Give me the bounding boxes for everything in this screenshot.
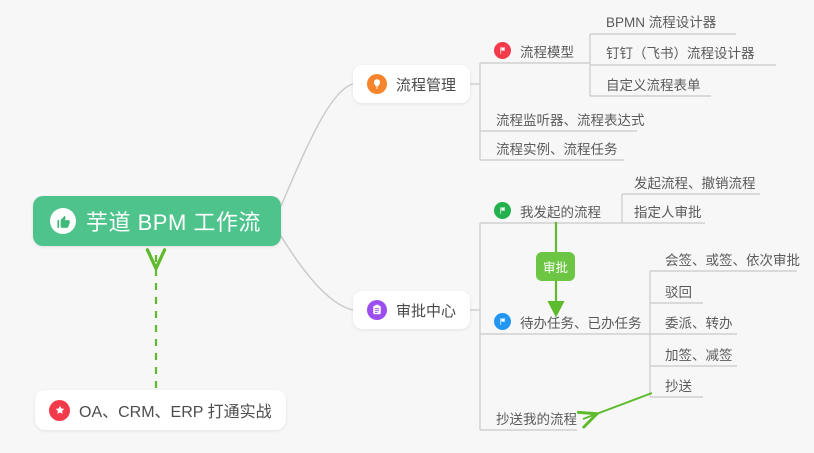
leaf-reject[interactable]: 驳回 — [659, 285, 698, 305]
flag-icon — [494, 313, 511, 330]
flag-icon — [494, 42, 511, 59]
leaf-label: 流程模型 — [520, 45, 574, 60]
leaf-label: 加签、减签 — [665, 348, 733, 363]
leaf-label: 钉钉（飞书）流程设计器 — [606, 46, 755, 61]
leaf-dingtalk-designer[interactable]: 钉钉（飞书）流程设计器 — [600, 46, 761, 66]
leaf-countersign[interactable]: 会签、或签、依次审批 — [659, 253, 806, 273]
leaf-label: 自定义流程表单 — [606, 78, 701, 93]
arrow-cc-to-ccme — [583, 393, 652, 419]
leaf-my-initiated[interactable]: 我发起的流程 — [494, 205, 607, 225]
clipboard-icon — [367, 300, 387, 320]
leaf-custom-form[interactable]: 自定义流程表单 — [600, 78, 707, 98]
leaf-label: 流程实例、流程任务 — [496, 142, 618, 157]
leaf-label: 驳回 — [665, 285, 692, 300]
integration-node[interactable]: OA、CRM、ERP 打通实战 — [35, 390, 286, 430]
leaf-label: 委派、转办 — [665, 316, 733, 331]
leaf-label: 指定人审批 — [634, 205, 702, 220]
leaf-delegate-transfer[interactable]: 委派、转办 — [659, 316, 739, 336]
thumbs-up-icon — [50, 208, 76, 234]
root-label: 芋道 BPM 工作流 — [86, 205, 261, 237]
integration-node-label: OA、CRM、ERP 打通实战 — [79, 398, 272, 422]
leaf-cc[interactable]: 抄送 — [659, 379, 698, 399]
leaf-label: 待办任务、已办任务 — [520, 316, 642, 331]
branch-label-process-management: 流程管理 — [396, 74, 456, 95]
leaf-process-model[interactable]: 流程模型 — [494, 45, 580, 65]
star-icon — [49, 400, 70, 421]
leaf-label: 抄送 — [665, 379, 692, 394]
approve-tag: 审批 — [536, 252, 575, 281]
connector-root-to-approval — [281, 236, 353, 310]
leaf-label: 我发起的流程 — [520, 205, 601, 220]
leaf-todo-done[interactable]: 待办任务、已办任务 — [494, 316, 648, 336]
leaf-process-instance[interactable]: 流程实例、流程任务 — [490, 142, 624, 162]
branch-label-approval-center: 审批中心 — [396, 300, 456, 321]
leaf-label: 会签、或签、依次审批 — [665, 253, 800, 268]
leaf-start-cancel-process[interactable]: 发起流程、撤销流程 — [628, 176, 762, 196]
approve-tag-label: 审批 — [543, 257, 568, 276]
lightbulb-icon — [367, 74, 387, 94]
leaf-label: 抄送我的流程 — [496, 412, 577, 427]
flag-icon — [494, 202, 511, 219]
leaf-label: 发起流程、撤销流程 — [634, 176, 756, 191]
branch-node-approval-center[interactable]: 审批中心 — [353, 291, 470, 329]
leaf-add-remove-sign[interactable]: 加签、减签 — [659, 348, 739, 368]
leaf-process-listener[interactable]: 流程监听器、流程表达式 — [490, 113, 651, 133]
mindmap-canvas: 芋道 BPM 工作流 流程管理 审批中心 — [0, 0, 814, 453]
leaf-assignee-approve[interactable]: 指定人审批 — [628, 205, 708, 225]
leaf-cc-to-me[interactable]: 抄送我的流程 — [490, 412, 583, 432]
connector-root-to-process — [281, 84, 353, 206]
leaf-label: BPMN 流程设计器 — [606, 15, 716, 30]
leaf-label: 流程监听器、流程表达式 — [496, 113, 645, 128]
leaf-bpmn-designer[interactable]: BPMN 流程设计器 — [600, 15, 722, 35]
branch-node-process-management[interactable]: 流程管理 — [353, 65, 470, 103]
root-node[interactable]: 芋道 BPM 工作流 — [33, 196, 281, 246]
